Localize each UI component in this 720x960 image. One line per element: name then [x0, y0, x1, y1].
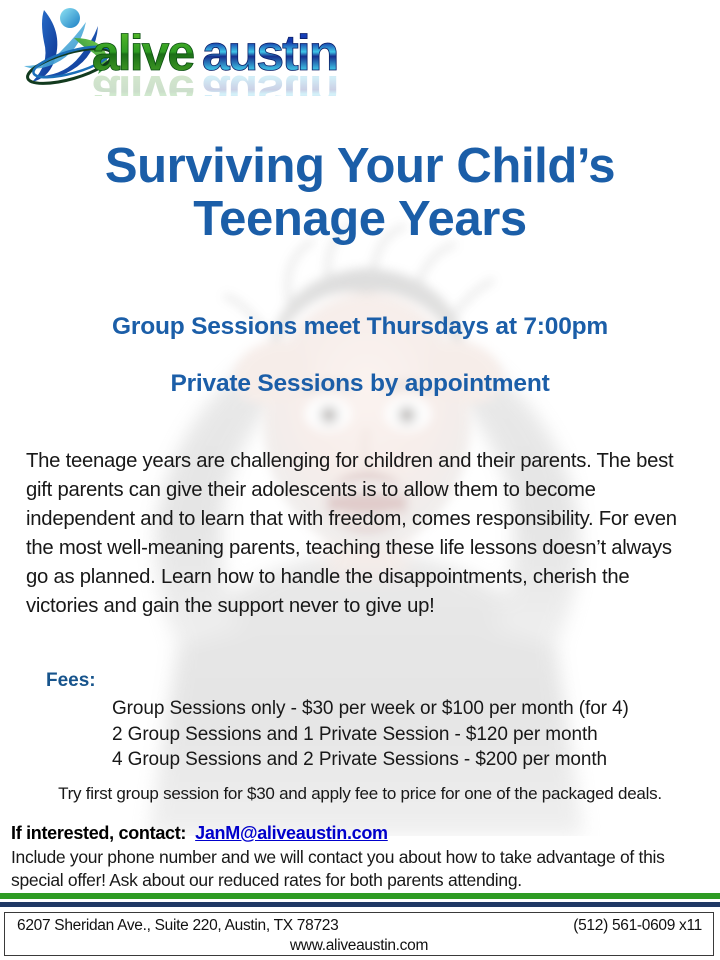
footer-website: www.aliveaustin.com — [5, 937, 713, 955]
footer-top-row: 6207 Sheridan Ave., Suite 220, Austin, T… — [5, 913, 713, 935]
fees-list: Group Sessions only - $30 per week or $1… — [112, 696, 692, 773]
fee-item: Group Sessions only - $30 per week or $1… — [112, 696, 692, 722]
fees-label: Fees: — [46, 670, 96, 692]
contact-email-link[interactable]: JanM@aliveaustin.com — [195, 823, 388, 843]
title-line-1: Surviving Your Child’s — [105, 139, 615, 193]
svg-text:austin: austin — [202, 65, 337, 96]
trial-offer-note: Try first group session for $30 and appl… — [0, 784, 720, 804]
footer-green-rule — [0, 893, 720, 899]
fee-item: 4 Group Sessions and 2 Private Sessions … — [112, 747, 692, 773]
footer-address: 6207 Sheridan Ave., Suite 220, Austin, T… — [17, 917, 338, 935]
closing-paragraph: Include your phone number and we will co… — [11, 846, 711, 892]
alive-austin-logo: alive austin alive austin — [14, 4, 394, 96]
body-paragraph: The teenage years are challenging for ch… — [26, 447, 690, 621]
flyer-page: alive austin alive austin Surviving Your… — [0, 0, 720, 960]
private-sessions-subtitle: Private Sessions by appointment — [0, 370, 720, 398]
group-sessions-subtitle: Group Sessions meet Thursdays at 7:00pm — [0, 313, 720, 341]
contact-prompt: If interested, contact: — [11, 823, 186, 843]
flyer-title: Surviving Your Child’s Teenage Years — [0, 140, 720, 246]
title-line-2: Teenage Years — [0, 193, 720, 246]
fee-item: 2 Group Sessions and 1 Private Session -… — [112, 722, 692, 748]
footer-phone: (512) 561-0609 x11 — [573, 917, 702, 935]
footer-navy-rule — [0, 902, 720, 907]
svg-text:alive: alive — [92, 65, 194, 96]
footer-contact-box: 6207 Sheridan Ave., Suite 220, Austin, T… — [4, 912, 714, 956]
contact-line: If interested, contact:JanM@aliveaustin.… — [11, 823, 388, 844]
